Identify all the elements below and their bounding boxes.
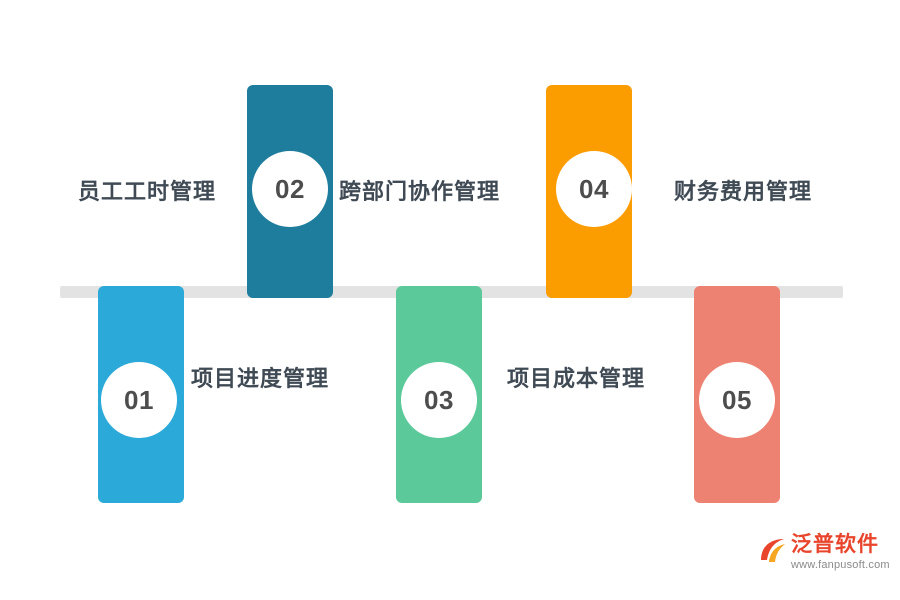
step-number-circle-03: 03 [401,362,477,438]
step-number-circle-02: 02 [252,151,328,227]
step-number-04: 04 [579,174,609,205]
fanpu-logo-icon [757,536,787,566]
step-label-05: 财务费用管理 [674,174,812,206]
step-number-01: 01 [124,385,154,416]
step-label-02: 员工工时管理 [78,174,216,206]
brand-logo: 泛普软件 www.fanpusoft.com [757,534,890,571]
step-number-circle-05: 05 [699,362,775,438]
logo-url: www.fanpusoft.com [791,560,890,571]
step-number-circle-04: 04 [556,151,632,227]
step-number-03: 03 [424,385,454,416]
step-label-04: 跨部门协作管理 [339,174,500,206]
logo-text-wrap: 泛普软件 www.fanpusoft.com [791,534,890,571]
step-number-02: 02 [275,174,305,205]
step-number-05: 05 [722,385,752,416]
infographic-canvas: 01 02 03 04 05 员工工时管理 跨部门协作管理 财务费用管理 项目进… [0,0,900,600]
step-label-03: 项目成本管理 [507,361,645,393]
step-label-01: 项目进度管理 [191,361,329,393]
step-number-circle-01: 01 [101,362,177,438]
logo-title: 泛普软件 [791,534,890,555]
